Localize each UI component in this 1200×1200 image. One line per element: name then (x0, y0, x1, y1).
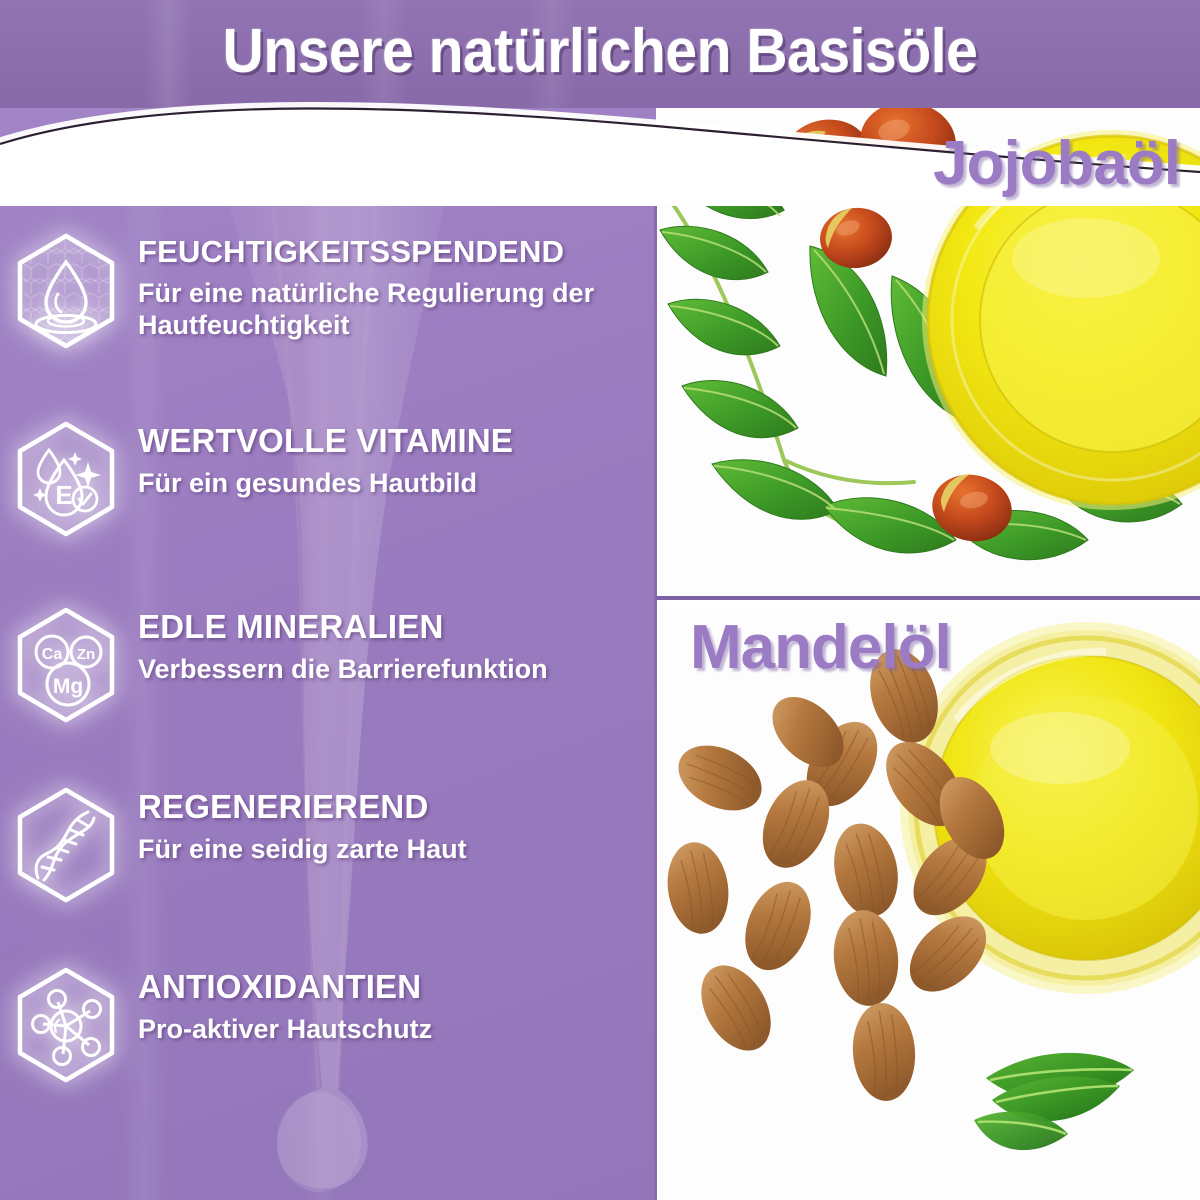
hexagon-minerals-icon: Ca Zn Mg (12, 606, 120, 724)
page-title: Unsere natürlichen Basisöle (48, 16, 1152, 87)
feature-title: ANTIOXIDANTIEN (138, 970, 652, 1005)
almond-photo (656, 608, 1200, 1200)
feature-title: EDLE MINERALIEN (138, 610, 652, 645)
feature-item-antioxidants: ANTIOXIDANTIEN Pro-aktiver Hautschutz (12, 964, 652, 1084)
feature-subtitle: Für eine natürliche Regulierung der Haut… (138, 277, 652, 343)
feature-text: WERTVOLLE VITAMINE Für ein gesundes Haut… (138, 418, 652, 500)
feature-subtitle: Für ein gesundes Hautbild (138, 467, 652, 500)
oil-title-jojoba: Jojobaöl (656, 128, 1196, 199)
panel-vertical-divider (654, 150, 657, 1200)
feature-subtitle: Pro-aktiver Hautschutz (138, 1013, 652, 1046)
feature-item-minerals: Ca Zn Mg EDLE MINERALIEN Verbessern die … (12, 604, 652, 724)
hexagon-vitamin-e-droplet-icon: E (12, 420, 120, 538)
hexagon-droplet-ripple-icon (12, 232, 120, 350)
almonds-oil-bowl-leaf-photo (656, 608, 1200, 1200)
feature-list: FEUCHTIGKEITSSPENDEND Für eine natürlich… (0, 108, 656, 1200)
feature-subtitle: Verbessern die Barrierefunktion (138, 653, 652, 686)
feature-subtitle: Für eine seidig zarte Haut (138, 833, 652, 866)
hexagon-dna-helix-icon (12, 786, 120, 904)
feature-text: EDLE MINERALIEN Verbessern die Barrieref… (138, 604, 652, 686)
feature-title: REGENERIEREND (138, 790, 652, 825)
feature-text: FEUCHTIGKEITSSPENDEND Für eine natürlich… (138, 230, 652, 342)
hexagon-molecule-icon (12, 966, 120, 1084)
feature-text: REGENERIEREND Für eine seidig zarte Haut (138, 784, 652, 866)
svg-text:Mg: Mg (53, 675, 83, 698)
feature-item-regenerating: REGENERIEREND Für eine seidig zarte Haut (12, 784, 652, 904)
svg-text:Zn: Zn (77, 646, 95, 663)
panel-horizontal-divider (656, 596, 1200, 600)
svg-text:E: E (55, 480, 72, 510)
features-panel: FEUCHTIGKEITSSPENDEND Für eine natürlich… (0, 108, 656, 1200)
product-infographic: Unsere natürlichen Basisöle (0, 0, 1200, 1200)
feature-title: FEUCHTIGKEITSSPENDEND (138, 236, 652, 269)
feature-text: ANTIOXIDANTIEN Pro-aktiver Hautschutz (138, 964, 652, 1046)
feature-item-moisture: FEUCHTIGKEITSSPENDEND Für eine natürlich… (12, 230, 652, 350)
feature-title: WERTVOLLE VITAMINE (138, 424, 652, 459)
svg-text:Ca: Ca (42, 646, 63, 663)
feature-item-vitamins: E WERTVOLLE VITAMINE Für ein gesundes Ha… (12, 418, 652, 538)
oil-title-mandel: Mandelöl (690, 612, 951, 683)
